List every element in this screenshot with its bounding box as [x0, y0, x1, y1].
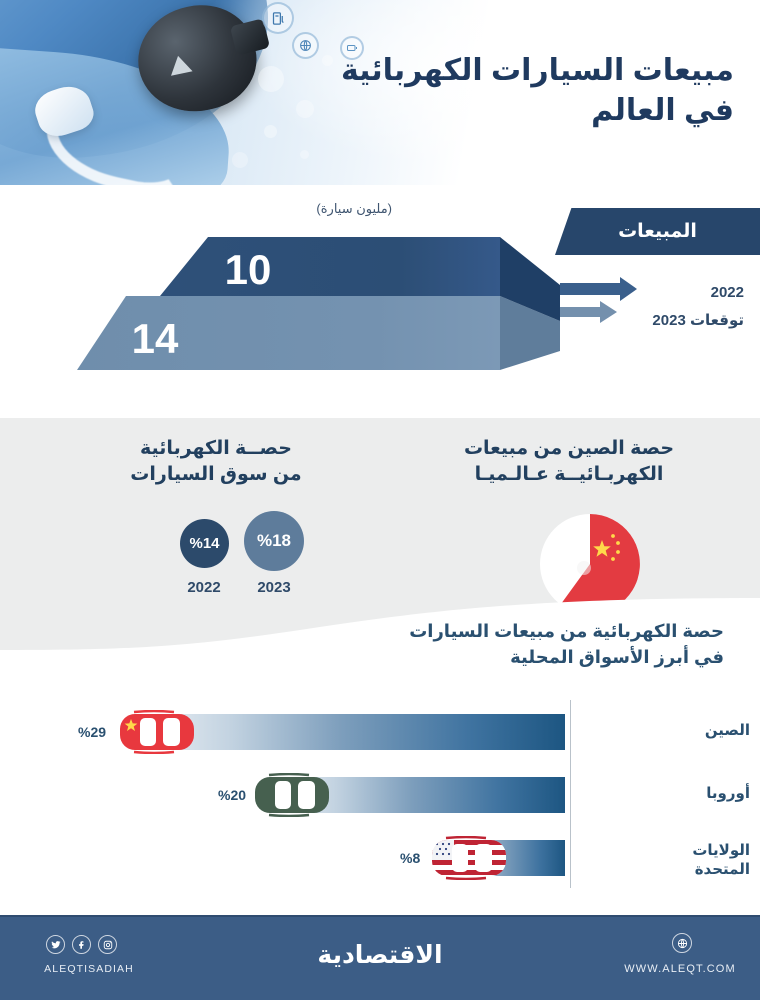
- bar-label-usa: الولايات المتحدة: [640, 842, 750, 880]
- china-car-icon: [118, 710, 196, 754]
- local-markets-title-line-2: في أبرز الأسواق المحلية: [304, 644, 724, 670]
- title-line-1: مبيعات السيارات الكهربائية: [341, 52, 734, 90]
- bokeh-dot: [322, 55, 333, 66]
- bar-value-usa: %8: [400, 850, 420, 866]
- header-banner: مبيعات السيارات الكهربائية في العالم: [0, 0, 760, 185]
- china-share-title: حصة الصين من مبيعات الكهربـائيــة عـالـم…: [424, 436, 714, 488]
- flag-star-small: [616, 550, 620, 554]
- pointer-2023: [560, 301, 617, 323]
- page-title: مبيعات السيارات الكهربائية في العالم: [341, 52, 734, 129]
- funnel-value-2022: 10: [225, 246, 272, 293]
- infographic-page: مبيعات السيارات الكهربائية في العالم الم…: [0, 0, 760, 1000]
- local-markets-title-line-1: حصة الكهربائية من مبيعات السيارات: [304, 618, 724, 644]
- market-title-line-1: حصــة الكهربائية: [66, 436, 366, 462]
- china-title-line-2: الكهربـائيــة عـالـميـا: [424, 462, 714, 488]
- bar-value-europe: %20: [218, 787, 246, 803]
- legend-item-2022: 2022: [620, 281, 750, 303]
- charging-station-icon: [262, 2, 294, 34]
- market-bubble-2022-year: 2022: [174, 579, 234, 596]
- market-bubble-2023-value: %18: [257, 531, 291, 551]
- europe-car-icon: [253, 773, 331, 817]
- bokeh-dot: [232, 152, 248, 168]
- flag-star-small: [616, 541, 620, 545]
- bar-label-usa-line-2: المتحدة: [640, 861, 750, 880]
- legend-item-2023: توقعات 2023: [620, 309, 750, 331]
- globe-icon[interactable]: [672, 933, 692, 953]
- local-markets-title: حصة الكهربائية من مبيعات السيارات في أبر…: [304, 618, 724, 670]
- bar-label-china: الصين: [640, 722, 750, 741]
- bokeh-dot: [264, 125, 277, 138]
- pie-inner-hole: [577, 561, 591, 575]
- bar-label-usa-line-1: الولايات: [640, 842, 750, 861]
- bar-label-europe: أوروبا: [640, 785, 750, 804]
- market-bubble-2023: %18: [244, 511, 304, 571]
- bokeh-dot: [258, 66, 284, 92]
- usa-car-icon: [430, 836, 508, 880]
- market-bubble-2022-value: %14: [189, 535, 219, 552]
- market-title-line-2: من سوق السيارات: [66, 462, 366, 488]
- funnel-value-2023: 14: [132, 315, 179, 362]
- market-bubble-2023-year: 2023: [239, 579, 309, 596]
- bokeh-dot: [300, 150, 309, 159]
- footer-bar: ALEQTISADIAH الاقتصادية WWW.ALEQT.COM: [0, 915, 760, 1000]
- market-share-title: حصــة الكهربائية من سوق السيارات: [66, 436, 366, 488]
- bokeh-dot: [296, 100, 314, 118]
- market-bubble-2022: %14: [180, 519, 229, 568]
- title-line-2: في العالم: [341, 92, 734, 130]
- local-markets-bar-chart: %29 الصين %20 أوروبا: [0, 700, 760, 890]
- sales-legend: 2022 توقعات 2023: [620, 281, 750, 331]
- bar-fill-china: [135, 714, 565, 750]
- sales-section: المبيعات (مليون سيارة): [0, 185, 760, 418]
- globe-network-icon: [292, 32, 319, 59]
- china-title-line-1: حصة الصين من مبيعات: [424, 436, 714, 462]
- legend-label-2022: 2022: [711, 284, 744, 301]
- bar-value-china: %29: [78, 724, 106, 740]
- legend-label-2023: توقعات 2023: [652, 311, 744, 329]
- flag-star-small: [611, 534, 615, 538]
- website-label: WWW.ALEQT.COM: [610, 963, 750, 975]
- flag-star-small: [611, 557, 615, 561]
- funnel-band-2022: [160, 237, 500, 296]
